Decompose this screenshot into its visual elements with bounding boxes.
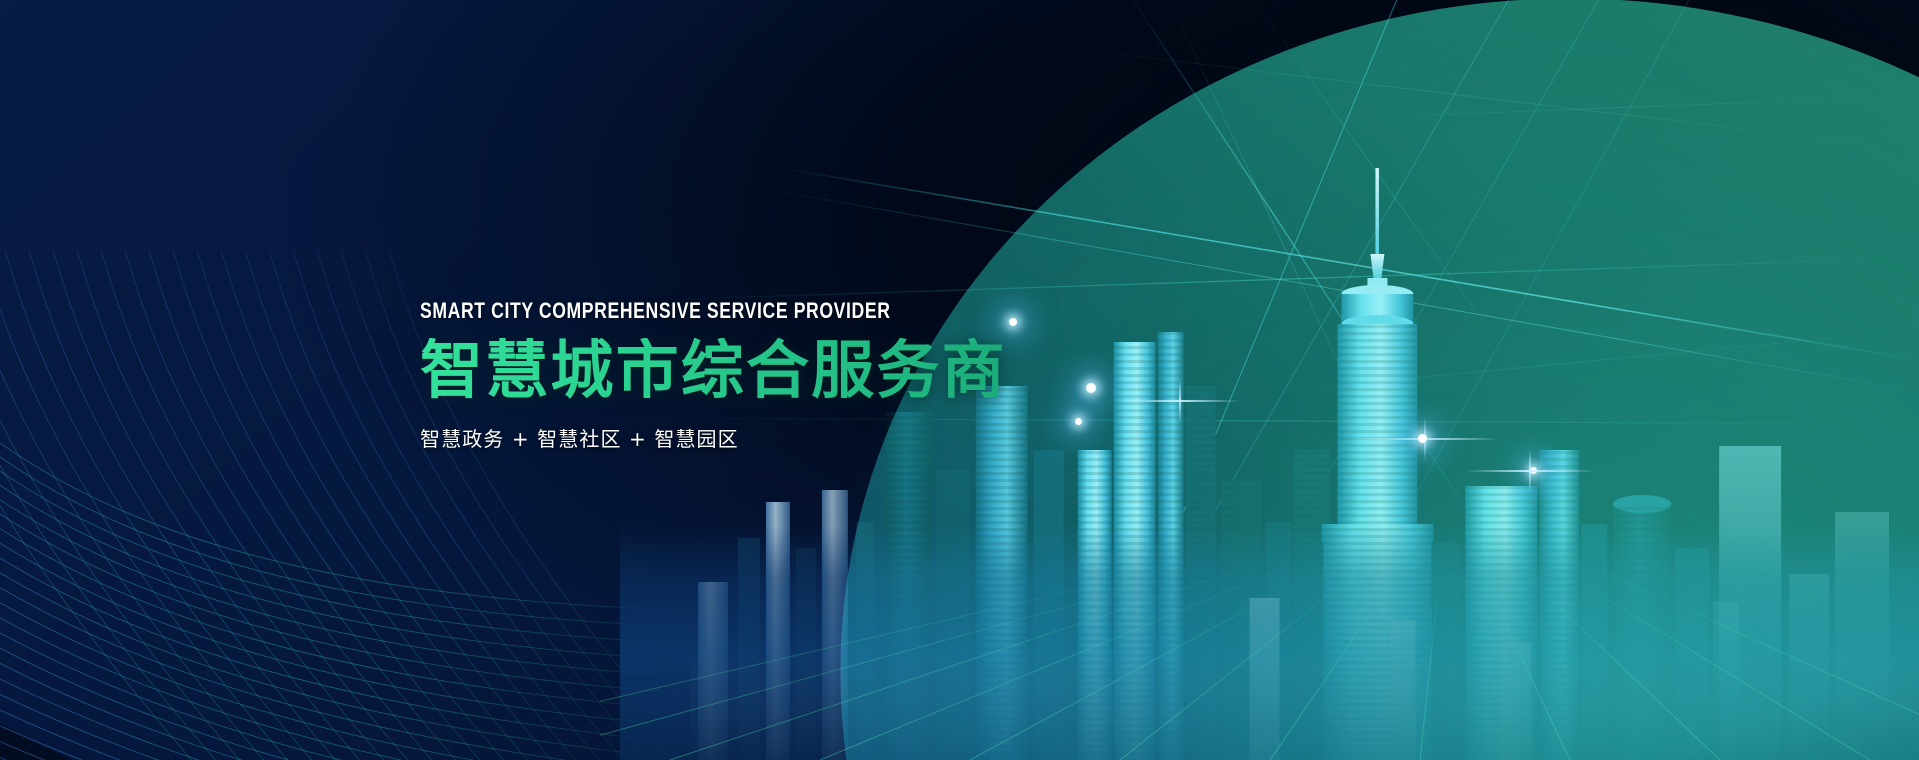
tower-lens-flare (1465, 470, 1595, 472)
hero-eyebrow: SMART CITY COMPREHENSIVE SERVICE PROVIDE… (420, 300, 1028, 322)
tower-highlight-dot (1418, 434, 1427, 443)
hero-banner: SMART CITY COMPREHENSIVE SERVICE PROVIDE… (0, 0, 1919, 760)
hero-headline: 智慧城市综合服务商 (420, 338, 1180, 405)
hero-tagline: 智慧政务 + 智慧社区 + 智慧园区 (420, 423, 1180, 452)
hero-copy-block: SMART CITY COMPREHENSIVE SERVICE PROVIDE… (420, 300, 1180, 452)
